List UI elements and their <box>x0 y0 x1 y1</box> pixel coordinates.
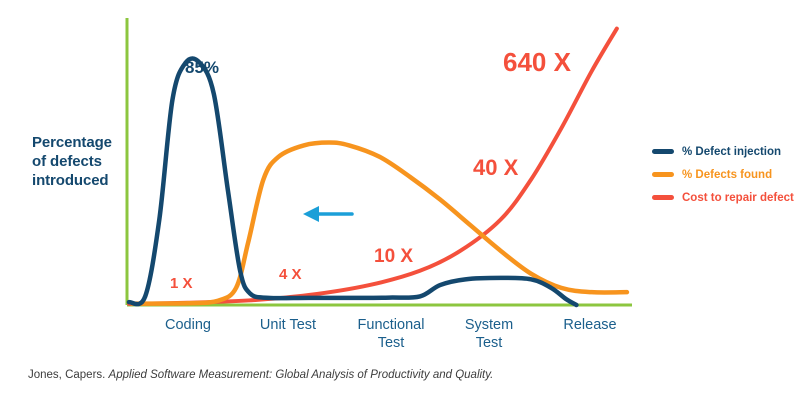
y-axis-label-line-2: of defects <box>32 152 132 171</box>
annotation-4-x: 4 X <box>279 266 302 283</box>
annotation-85: 85% <box>185 58 219 78</box>
y-axis-label-line-3: introduced <box>32 171 132 190</box>
legend-swatch-defect-injection <box>652 149 674 154</box>
y-axis-label-line-1: Percentage <box>32 133 132 152</box>
x-axis-tick-label-4: Release <box>530 316 650 334</box>
source-citation: Jones, Capers. Applied Software Measurem… <box>28 369 493 381</box>
series-line-defect-injection <box>129 58 576 305</box>
annotation-40-x: 40 X <box>473 155 518 181</box>
legend-swatch-cost-to-repair <box>652 195 674 200</box>
annotation-1-x: 1 X <box>170 275 193 292</box>
series-line-defects-found <box>132 143 627 304</box>
chart-legend: % Defect injection % Defects found Cost … <box>652 140 798 209</box>
legend-swatch-defects-found <box>652 172 674 177</box>
legend-label-cost-to-repair: Cost to repair defect <box>682 192 794 204</box>
citation-title: Applied Software Measurement: Global Ana… <box>109 369 494 381</box>
callout-arrow-icon <box>303 206 352 222</box>
citation-author: Jones, Capers. <box>28 369 109 381</box>
legend-label-defects-found: % Defects found <box>682 169 772 181</box>
legend-item-cost-to-repair: Cost to repair defect <box>652 186 798 209</box>
y-axis-label: Percentage of defects introduced <box>32 133 132 190</box>
x-axis-tick-label-1: Unit Test <box>228 316 348 334</box>
legend-label-defect-injection: % Defect injection <box>682 146 781 158</box>
legend-item-defect-injection: % Defect injection <box>652 140 798 163</box>
annotation-640-x: 640 X <box>503 47 571 78</box>
annotation-10-x: 10 X <box>374 246 413 268</box>
legend-item-defects-found: % Defects found <box>652 163 798 186</box>
